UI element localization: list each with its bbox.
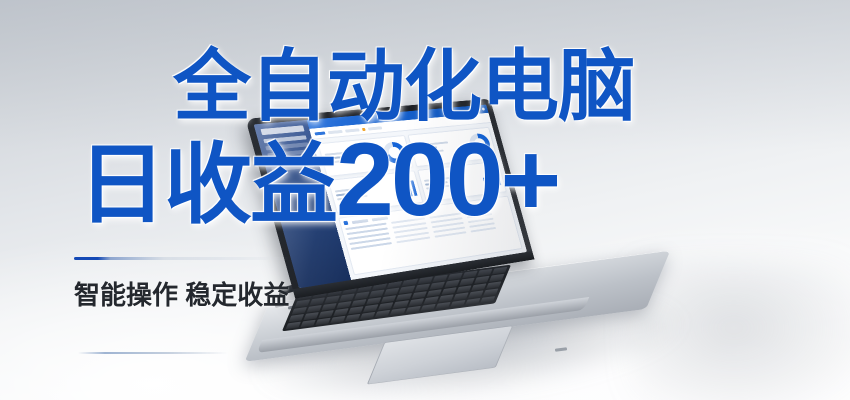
subtitle-accent-line [74, 257, 289, 260]
laptop-port-right [555, 347, 567, 352]
bottom-decorative-line [78, 352, 228, 354]
subtitle-text: 智能操作 稳定收益 [74, 275, 289, 312]
headline-daily-income-number: 200+ [336, 122, 558, 238]
promo-banner: 全自动化电脑 日收益200+ 智能操作 稳定收益 [0, 0, 850, 400]
headline-line-2: 日收益200+ [78, 128, 558, 232]
headline-line-2-text: 日收益 [78, 135, 336, 234]
headline-line-1: 全自动化电脑 [173, 47, 635, 125]
